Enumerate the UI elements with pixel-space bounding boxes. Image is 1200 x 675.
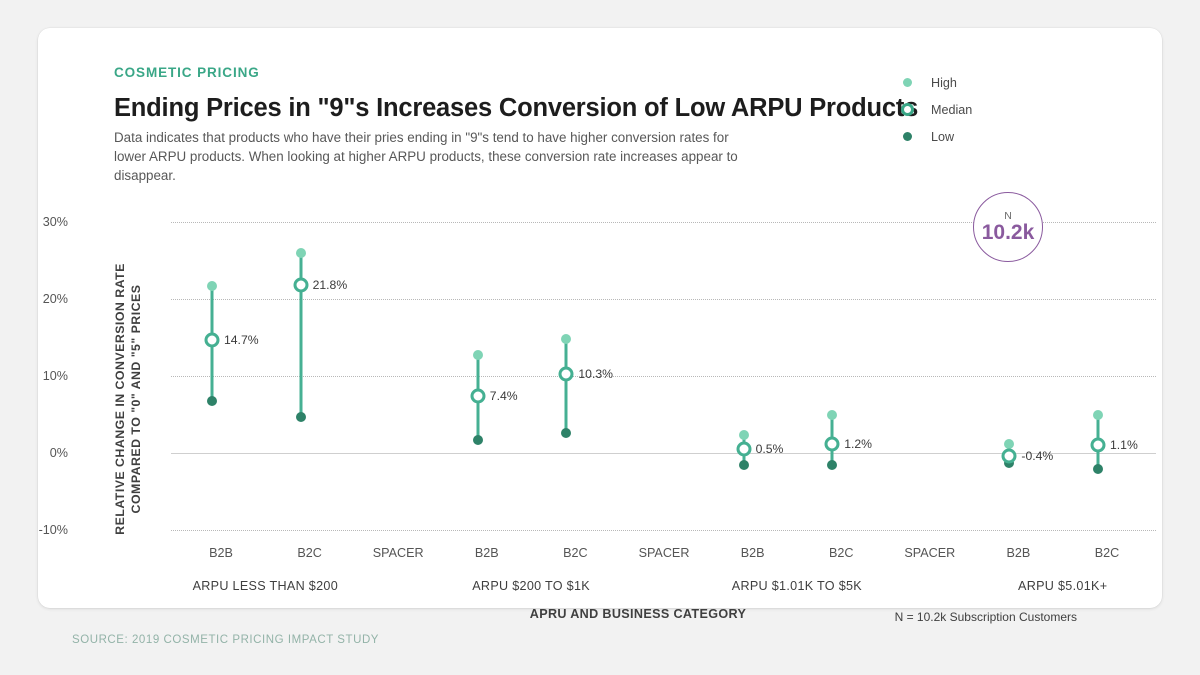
sample-note: N = 10.2k Subscription Customers [895,610,1077,624]
x-axis-group-label: ARPU $200 TO $1K [472,579,590,593]
gridline [171,530,1156,531]
low-marker[interactable] [827,460,837,470]
low-marker[interactable] [1093,464,1103,474]
high-marker[interactable] [827,410,837,420]
badge-caption: N [1004,211,1012,221]
median-value-label: 10.3% [578,367,613,381]
x-axis-group-label: ARPU $1.01K TO $5K [732,579,862,593]
legend-item[interactable]: Median [899,96,972,123]
median-marker[interactable] [1002,449,1017,464]
legend-item[interactable]: Low [899,123,972,150]
x-axis-tick-label: B2C [1095,546,1120,560]
sample-size-badge: N 10.2k [973,192,1043,262]
median-value-label: 1.2% [844,437,872,451]
median-marker[interactable] [293,278,308,293]
median-marker[interactable] [736,442,751,457]
y-axis-tick-label: 10% [38,369,68,383]
high-marker[interactable] [739,430,749,440]
x-axis-tick-label: B2B [209,546,233,560]
legend-item-label: Median [931,103,972,117]
x-axis-tick-label: SPACER [904,546,955,560]
x-axis-tick-label: B2B [1006,546,1030,560]
y-axis-tick-label: -10% [38,523,68,537]
legend-item-label: Low [931,130,954,144]
x-axis-group-label: ARPU $5.01K+ [1018,579,1107,593]
legend-marker-icon [899,78,915,87]
page-title: Ending Prices in "9"s Increases Conversi… [114,94,918,123]
median-value-label: -0.4% [1021,449,1053,463]
median-marker[interactable] [1091,437,1106,452]
x-axis-tick-label: B2B [741,546,765,560]
y-axis-title-line: COMPARED TO "0" AND "5" PRICES [128,234,144,564]
high-marker[interactable] [1093,410,1103,420]
legend-marker-icon [899,132,915,141]
x-axis-tick-label: B2B [475,546,499,560]
legend: HighMedianLow [899,69,972,150]
low-marker[interactable] [296,412,306,422]
median-marker[interactable] [470,389,485,404]
median-marker[interactable] [205,332,220,347]
low-marker[interactable] [207,396,217,406]
x-axis-tick-label: SPACER [639,546,690,560]
y-axis-tick-label: 0% [38,446,68,460]
low-marker[interactable] [561,428,571,438]
low-marker[interactable] [739,460,749,470]
range-stem [565,339,568,433]
median-value-label: 7.4% [490,389,518,403]
median-value-label: 21.8% [313,278,348,292]
median-value-label: 1.1% [1110,438,1138,452]
legend-item-label: High [931,76,957,90]
eyebrow-label: COSMETIC PRICING [114,65,260,80]
median-value-label: 0.5% [756,442,784,456]
legend-marker-icon [899,103,915,116]
median-marker[interactable] [559,366,574,381]
x-axis-tick-label: SPACER [373,546,424,560]
high-marker[interactable] [296,248,306,258]
high-marker[interactable] [207,281,217,291]
x-axis-group-label: ARPU LESS THAN $200 [193,579,338,593]
chart-screenshot: COSMETIC PRICING Ending Prices in "9"s I… [0,0,1200,675]
high-marker[interactable] [1004,439,1014,449]
median-value-label: 14.7% [224,333,259,347]
source-caption: SOURCE: 2019 COSMETIC PRICING IMPACT STU… [72,634,379,646]
badge-value: 10.2k [982,222,1035,243]
gridline [171,299,1156,300]
legend-item[interactable]: High [899,69,972,96]
y-axis-title-line: RELATIVE CHANGE IN CONVERSION RATE [112,234,128,564]
x-axis-tick-label: B2C [297,546,322,560]
high-marker[interactable] [473,350,483,360]
chart-card: COSMETIC PRICING Ending Prices in "9"s I… [38,28,1162,608]
y-axis-tick-label: 30% [38,215,68,229]
plot-area: 30%20%10%0%-10%14.7%21.8%7.4%10.3%0.5%1.… [171,222,1156,530]
gridline [171,376,1156,377]
y-axis-tick-label: 20% [38,292,68,306]
y-axis-title: RELATIVE CHANGE IN CONVERSION RATECOMPAR… [112,234,144,564]
median-marker[interactable] [825,436,840,451]
low-marker[interactable] [473,435,483,445]
x-axis-tick-label: B2C [829,546,854,560]
x-axis-tick-label: B2C [563,546,588,560]
high-marker[interactable] [561,334,571,344]
subtitle-text: Data indicates that products who have th… [114,128,754,185]
